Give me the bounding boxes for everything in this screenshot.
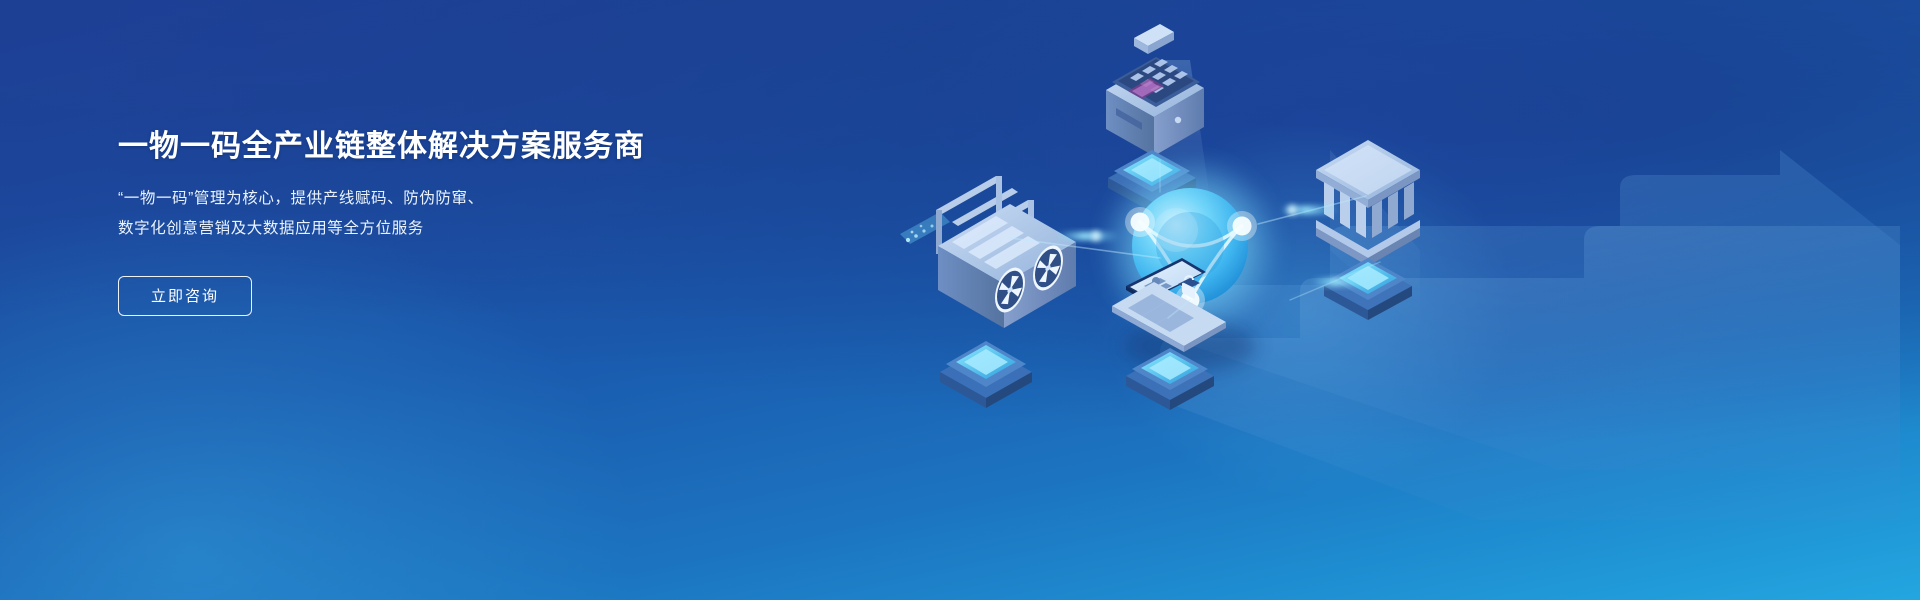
hero-banner: 一物一码全产业链整体解决方案服务商 “一物一码”管理为核心，提供产线赋码、防伪防… (0, 0, 1920, 600)
vent-particles (900, 212, 950, 244)
subtitle-line-2: 数字化创意营销及大数据应用等全方位服务 (118, 214, 878, 244)
hero-copy: 一物一码全产业链整体解决方案服务商 “一物一码”管理为核心，提供产线赋码、防伪防… (118, 128, 878, 316)
server-rack-icon (900, 176, 1076, 408)
rack-pedestal (940, 341, 1032, 408)
page-title: 一物一码全产业链整体解决方案服务商 (118, 128, 878, 166)
hero-illustration (860, 0, 1920, 600)
bank-building-icon (1314, 140, 1422, 320)
consult-now-button[interactable]: 立即咨询 (118, 276, 252, 316)
hero-subtitle: “一物一码”管理为核心，提供产线赋码、防伪防窜、 数字化创意营销及大数据应用等全… (118, 184, 878, 244)
subtitle-line-1: “一物一码”管理为核心，提供产线赋码、防伪防窜、 (118, 184, 878, 214)
